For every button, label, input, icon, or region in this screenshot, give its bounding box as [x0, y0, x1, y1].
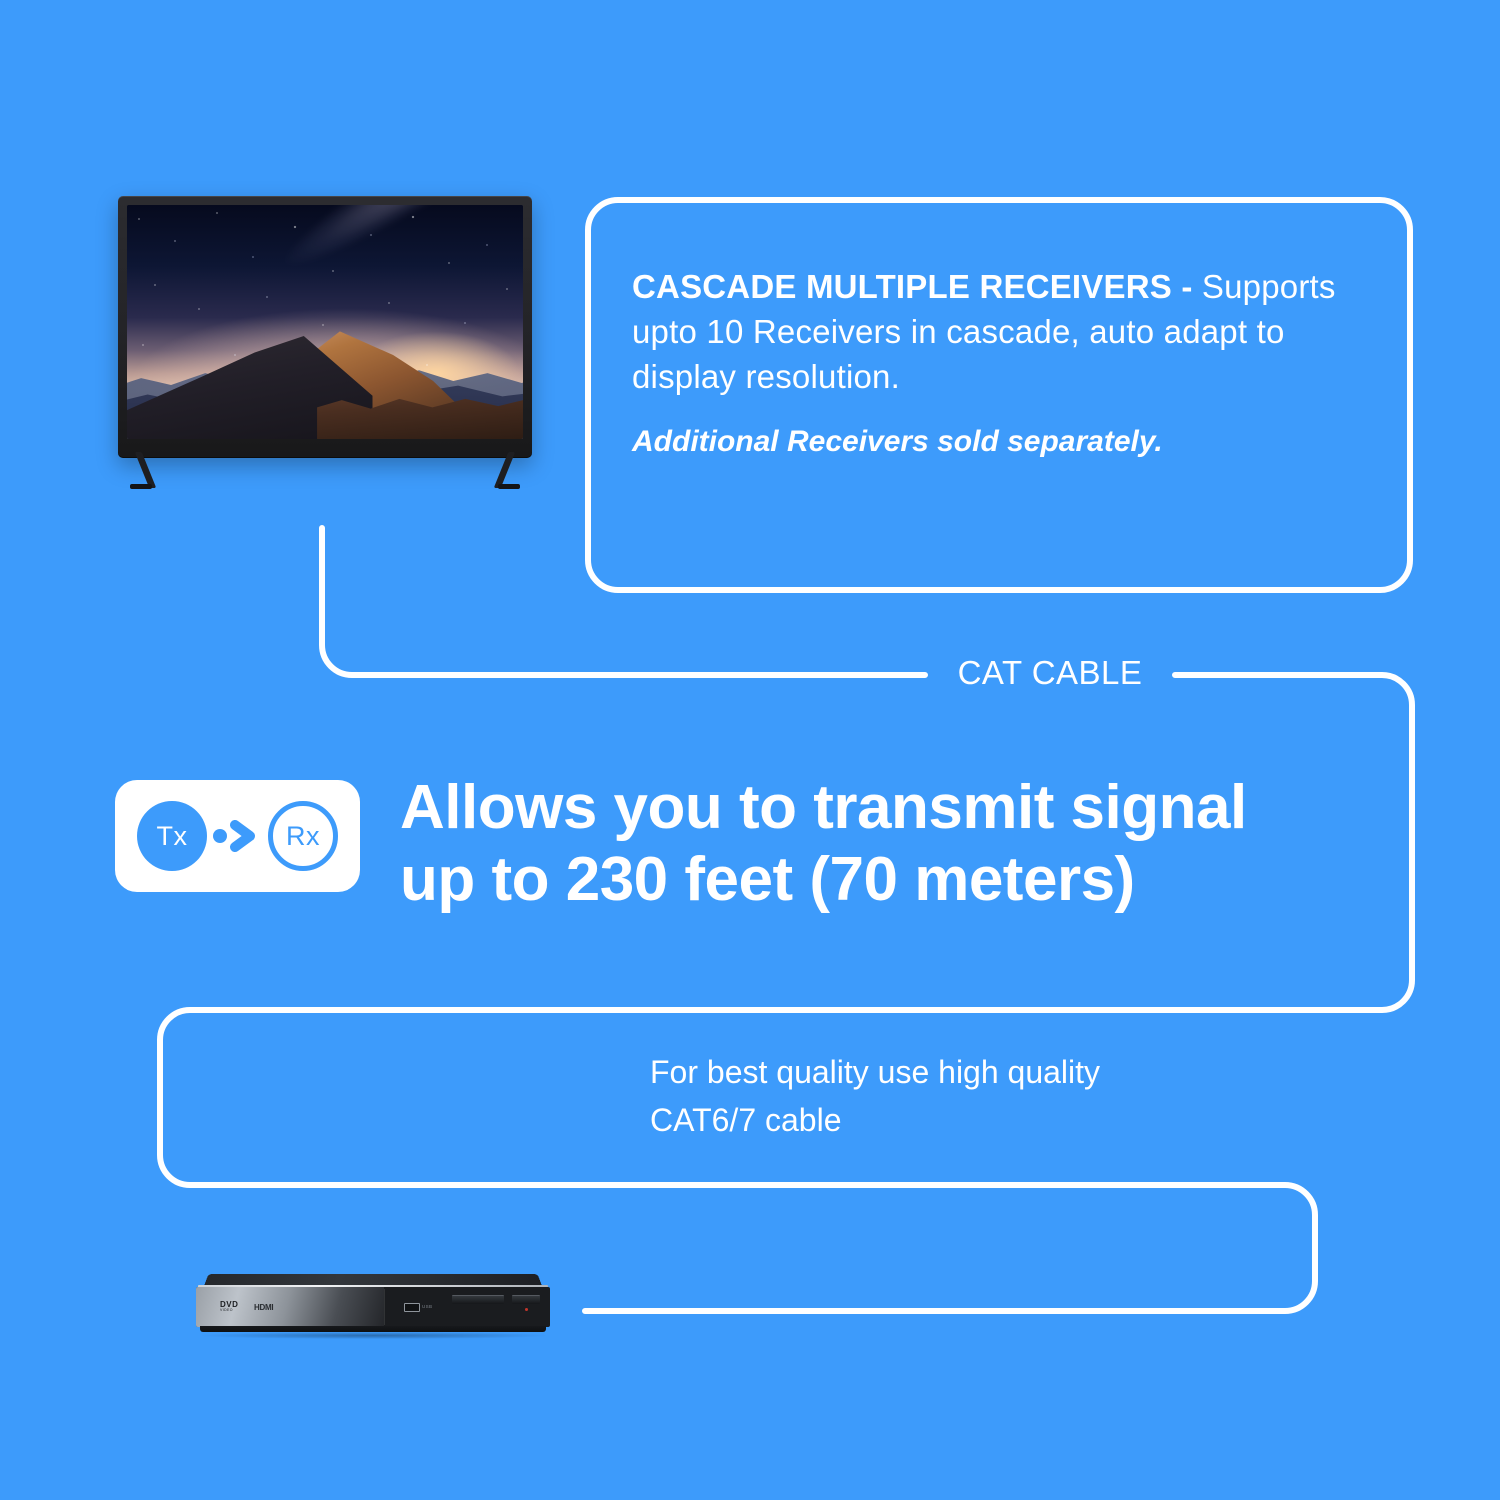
infographic-canvas: CASCADE MULTIPLE RECEIVERS - Supports up… — [0, 0, 1500, 1500]
headline-line-1: Allows you to transmit signal — [400, 772, 1390, 844]
dvd-panel-seam — [384, 1289, 385, 1325]
headline-line-2: up to 230 feet (70 meters) — [400, 844, 1390, 916]
cascade-paragraph: CASCADE MULTIPLE RECEIVERS - Supports up… — [632, 264, 1384, 399]
dvd-logo-icon: DVD VIDEO — [220, 1301, 238, 1313]
receiver-circle: Rx — [268, 801, 338, 871]
dvd-player-front-panel: DVD VIDEO HDMI USB — [196, 1287, 550, 1327]
transmitter-circle: Tx — [137, 801, 207, 871]
quality-line-1: For best quality use high quality — [650, 1048, 1350, 1096]
tv-screen — [127, 205, 523, 439]
headline: Allows you to transmit signal up to 230 … — [400, 772, 1390, 916]
dvd-display-slot — [512, 1295, 540, 1304]
dvd-disc-slot — [452, 1295, 504, 1304]
usb-port-icon — [404, 1303, 420, 1312]
dvd-player-shadow — [202, 1332, 546, 1339]
tv-foot-right — [498, 484, 520, 489]
hdmi-logo-icon: HDMI — [254, 1303, 273, 1312]
arrow-right-icon — [213, 820, 265, 852]
quality-callout: For best quality use high quality CAT6/7… — [650, 1048, 1350, 1144]
quality-line-2: CAT6/7 cable — [650, 1096, 1350, 1144]
usb-port-label: USB — [422, 1304, 432, 1309]
receiver-label: Rx — [286, 821, 320, 852]
dvd-player-device: DVD VIDEO HDMI USB — [196, 1272, 550, 1340]
tv-to-cable-line — [322, 528, 925, 675]
transmitter-label: Tx — [157, 821, 188, 852]
tv-foot-left — [130, 484, 152, 489]
cascade-callout: CASCADE MULTIPLE RECEIVERS - Supports up… — [632, 264, 1384, 461]
tv-body — [118, 196, 532, 458]
cascade-heading: CASCADE MULTIPLE RECEIVERS - — [632, 268, 1193, 305]
tv-device — [118, 196, 532, 488]
txrx-badge: Tx Rx — [115, 780, 360, 892]
cat-cable-label: CAT CABLE — [930, 654, 1170, 692]
power-led-indicator — [525, 1308, 528, 1311]
cascade-note: Additional Receivers sold separately. — [632, 423, 1384, 461]
